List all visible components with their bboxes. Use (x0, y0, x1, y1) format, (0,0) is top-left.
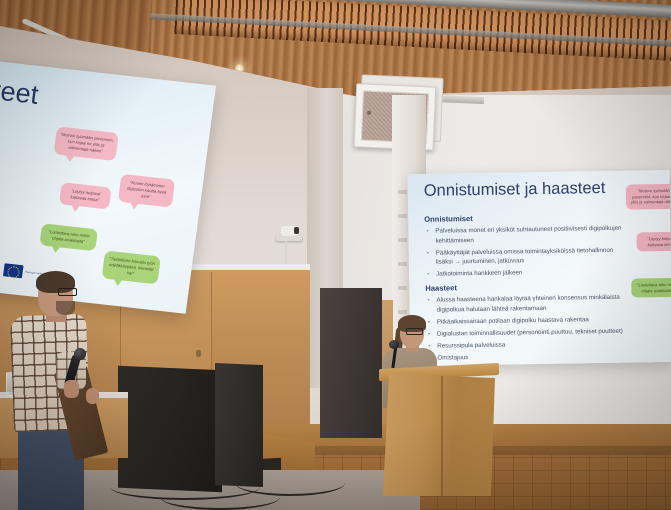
slide-bullet: Alussa haasteena hankalaa löytää yhteine… (436, 293, 627, 315)
microphone-head-icon (74, 348, 86, 360)
callout-bubble: "Tiedollisen kasvatu työn edelläkävijänä… (102, 250, 161, 284)
slide-right-challenges-list: Alussa haasteena hankalaa löytää yhteine… (427, 293, 628, 366)
presentation-photo-scene: ja haasteet suhtautuneet positiivisesti … (0, 0, 671, 510)
slide-bullet: Digialustan toiminnallisuudet (personoin… (437, 326, 628, 339)
slide-left-callouts: "Motivoi syömään paremmin, kun kirjaa ne… (36, 126, 204, 286)
slide-left-line: suhtautuneet positiivisesti (0, 111, 61, 140)
slide-bullet: Pitkäaikaissairaan potilaan digipolku ha… (437, 314, 628, 327)
callout-bubble: "Luotettava taho mihin ohjata asiakkaita… (39, 223, 98, 251)
slide-bullet: Resurssipula palveluissa (437, 339, 628, 352)
slide-right-successes-list: Palveluissa monet eri yksiköt suhtautune… (426, 224, 627, 283)
callout-bubble: "Kuvan löytäminen digipolun kautta hyvä … (118, 174, 175, 208)
camera-lens-icon (294, 227, 299, 234)
slide-left-title: ja haasteet (0, 65, 40, 111)
slide-right-section-heading-successes: Onnistumiset (424, 214, 473, 224)
slide-bullet: Omistajuus (437, 351, 628, 364)
av-equipment-panel (320, 288, 382, 438)
callout-bubble: "Luotettava taho mihin ohjata asiakkaita… (631, 278, 671, 298)
floor-speaker-cabinet (118, 366, 222, 493)
eu-flag-icon (3, 263, 24, 278)
eyeglasses-icon (406, 328, 423, 335)
slide-right-title: Onnistumiset ja haasteet (424, 179, 606, 201)
microphone-head-icon (389, 340, 399, 349)
eyeglasses-icon (58, 288, 77, 296)
lectern-edge (441, 376, 443, 496)
floor-speaker-cabinet-side (215, 363, 263, 487)
callout-bubble: "Löytyy helposti kattavaa tietoa" (59, 182, 112, 209)
man-hand (64, 380, 79, 398)
callout-bubble: "Löytyy helposti kattavaa tietoa" (636, 232, 671, 252)
man-beard (56, 301, 75, 315)
projection-screen-right: Onnistumiset ja haasteet Onnistumiset Pa… (408, 170, 671, 366)
slide-bullet: Palveluissa monet eri yksiköt suhtautune… (435, 224, 626, 246)
slide-bullet: Jatkotoiminta hankkeen jälkeen (436, 267, 627, 280)
callout-bubble: "Motivoi syömään paremmin, kun kirjaa ne… (54, 126, 119, 161)
slide-right-section-heading-challenges: Haasteet (425, 283, 457, 292)
slide-bullet: Pääkäyttäjät palveluissa omissa toiminta… (436, 245, 627, 267)
man-hand-second (86, 388, 99, 404)
door-handle[interactable] (196, 350, 201, 357)
callout-bubble: "Motivoi syömään paremmin, kun kirjaa ne… (626, 184, 671, 210)
projection-screen-left: ja haasteet suhtautuneet positiivisesti … (0, 49, 216, 314)
lectern (383, 374, 495, 496)
